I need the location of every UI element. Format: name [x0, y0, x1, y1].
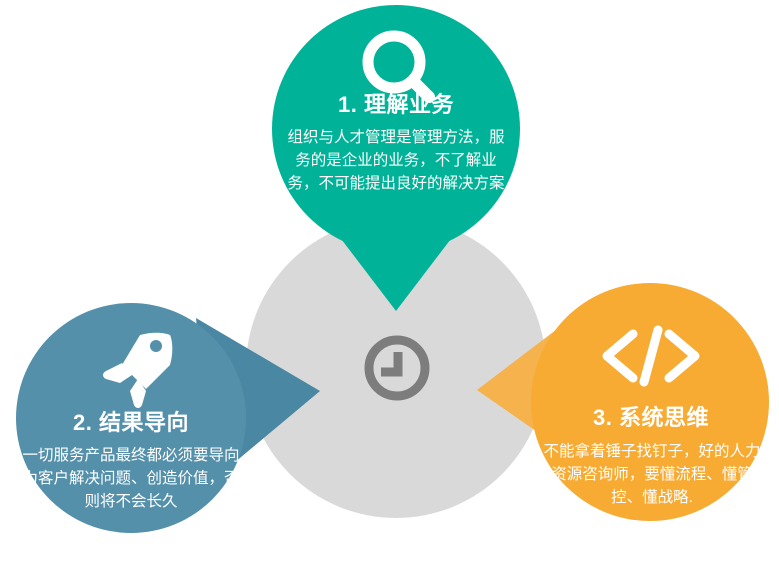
diagram-canvas: 1. 理解业务 组织与人才管理是管理方法，服务的是企业的业务，不了解业务，不可能…: [0, 0, 779, 562]
node-1-circle: [272, 5, 520, 253]
radial-diagram-graphic: [0, 0, 779, 562]
node-3-circle: [531, 283, 769, 521]
node-2-circle: [16, 303, 246, 533]
